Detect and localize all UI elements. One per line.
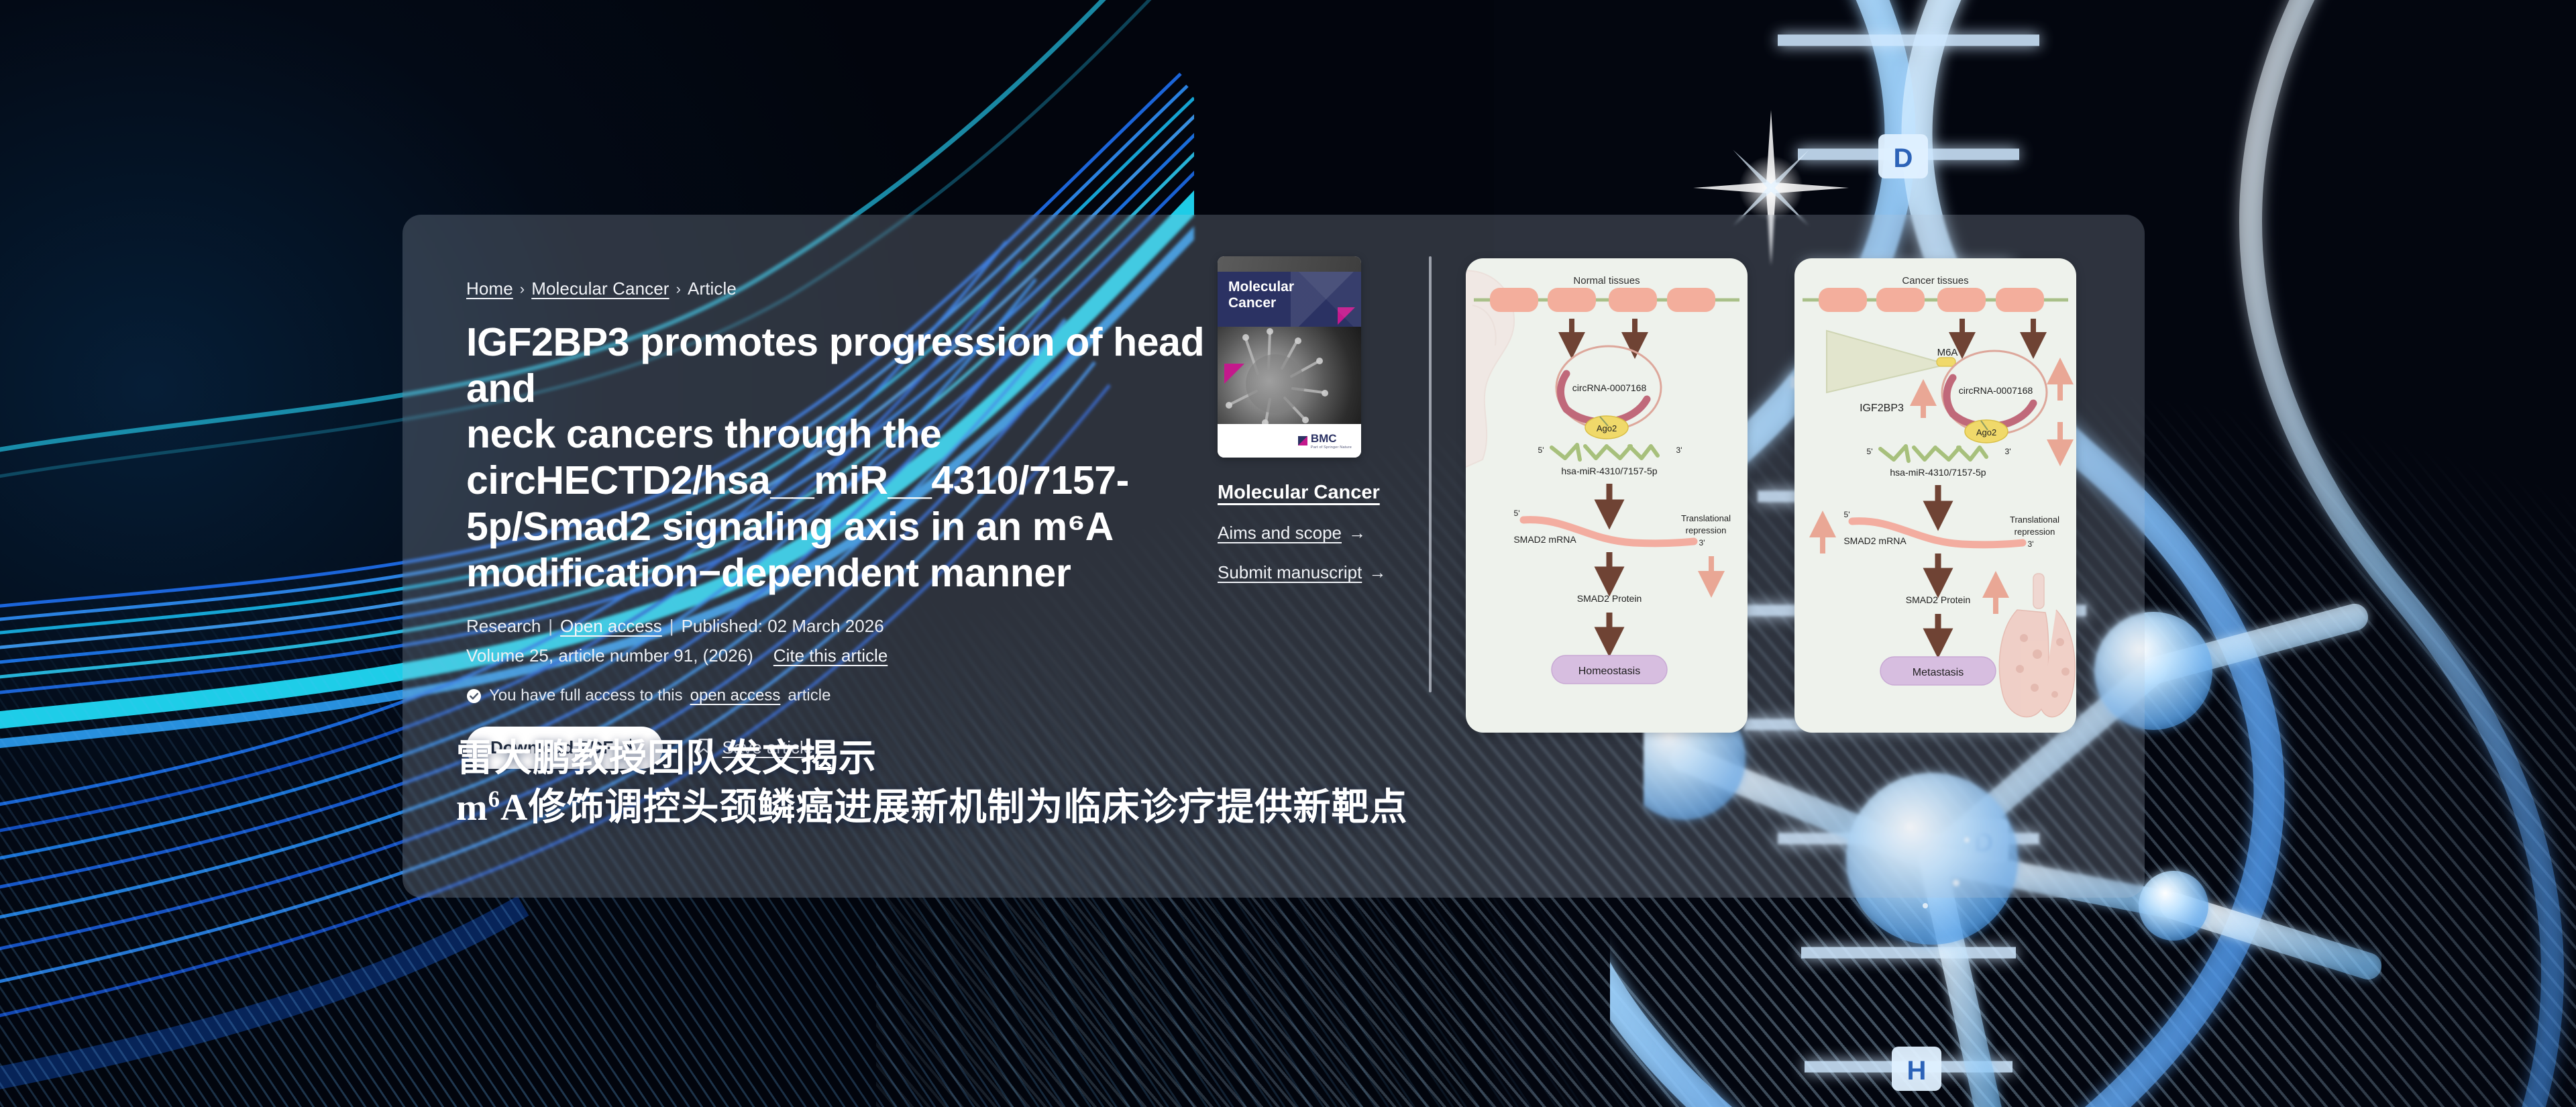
panel-1-circrna-label: circRNA-0007168 (1572, 382, 1647, 393)
panel-1-translational-repression-line1: Translational (1681, 513, 1731, 523)
aims-and-scope-link[interactable]: Aims and scope → (1218, 523, 1366, 543)
title-line-4: 5p/Smad2 signaling axis in an m⁶A (466, 505, 1114, 549)
published-date: Published: 02 March 2026 (682, 616, 884, 637)
breadcrumb: Home › Molecular Cancer › Article (466, 278, 1305, 299)
panel-2-mrna-three-prime: 3' (2028, 539, 2034, 549)
panel-2-mirna-label: hsa-miR-4310/7157-5p (1890, 467, 1986, 478)
aims-and-scope-label: Aims and scope (1218, 523, 1342, 543)
meta-pipe-1: | (548, 616, 553, 637)
breadcrumb-home[interactable]: Home (466, 278, 513, 299)
panel-2-heading: Cancer tissues (1902, 275, 1968, 286)
bmc-label: BMC (1311, 432, 1337, 445)
panel-2-three-prime: 3' (2005, 447, 2011, 456)
svg-text:D: D (1894, 144, 1913, 173)
submit-manuscript-link[interactable]: Submit manuscript → (1218, 562, 1386, 583)
panel-1-five-prime: 5' (1538, 445, 1544, 455)
bmc-mark-icon (1298, 436, 1307, 445)
journal-cover-title-line2: Cancer (1228, 295, 1361, 311)
bmc-logo-icon: BMC Part of Springer Nature (1298, 433, 1352, 450)
panel-1-mrna-three-prime: 3' (1699, 538, 1705, 547)
title-line-3: circHECTD2/hsa__miR__4310/7157- (466, 458, 1129, 503)
panel-2-m6a-label: M6A (1937, 347, 1958, 358)
breadcrumb-separator-2: › (676, 280, 681, 298)
panel-2-translational-repression-line2: repression (2015, 527, 2055, 537)
submit-manuscript-label: Submit manuscript (1218, 562, 1362, 583)
arrow-right-icon: → (1348, 523, 1366, 543)
access-notice-post: article (788, 686, 830, 705)
page-title: IGF2BP3 promotes progression of head and… (466, 319, 1207, 596)
journal-sidebar: Molecular Cancer (1218, 256, 1385, 583)
panel-1-three-prime: 3' (1676, 445, 1682, 455)
chinese-headline-line-2-pre: m (456, 787, 488, 829)
cite-this-article-link[interactable]: Cite this article (773, 645, 888, 666)
panel-2-protein-label: SMAD2 Protein (1906, 594, 1970, 605)
access-notice: You have full access to this open access… (466, 686, 1305, 705)
chinese-headline-line-2: m6A修饰调控头颈鳞癌进展新机制为临床诊疗提供新靶点 (456, 784, 2200, 833)
journal-cover-title-band: Molecular Cancer (1218, 272, 1361, 327)
chinese-headline-line-2-sup: 6 (488, 786, 500, 812)
article-summary: Home › Molecular Cancer › Article IGF2BP… (466, 278, 1305, 769)
panel-2-igf2bp3-label: IGF2BP3 (1860, 403, 1904, 414)
panel-2-mrna-label: SMAD2 mRNA (1843, 535, 1907, 546)
journal-cover-photo (1218, 327, 1361, 424)
panel-1-mrna-five-prime: 5' (1514, 509, 1520, 518)
panel-2-circrna-label: circRNA-0007168 (1959, 385, 2033, 396)
journal-name-link[interactable]: Molecular Cancer (1218, 482, 1380, 504)
panel-1-mrna-label: SMAD2 mRNA (1513, 534, 1576, 545)
figure-panel-cancer-tissues: Cancer tissues M6A IGF2BP3 (1794, 258, 2076, 733)
title-line-1: IGF2BP3 promotes progression of head and (466, 320, 1204, 411)
panel-1-heading: Normal tissues (1573, 275, 1640, 286)
journal-cover-top-strip (1218, 256, 1361, 272)
cover-pink-triangle-top-icon (1338, 307, 1355, 325)
graphical-abstract: Normal tissues (1466, 258, 2076, 733)
panel-2-outcome-label: Metastasis (1913, 667, 1964, 678)
panel-2-mrna-five-prime: 5' (1844, 510, 1850, 519)
bmc-sublabel: Part of Springer Nature (1311, 445, 1352, 450)
figure-panel-normal-tissues: Normal tissues (1466, 258, 1748, 733)
meta-pipe-2: | (669, 616, 674, 637)
journal-cover-footer: BMC Part of Springer Nature (1218, 424, 1361, 458)
vertical-divider (1429, 256, 1432, 692)
panel-1-outcome-label: Homeostasis (1578, 666, 1640, 677)
article-type: Research (466, 616, 541, 637)
breadcrumb-current: Article (688, 278, 737, 299)
open-access-link[interactable]: Open access (560, 616, 662, 637)
title-line-2: neck cancers through the (466, 412, 941, 456)
chinese-headline: 雷大鹏教授团队发文揭示 m6A修饰调控头颈鳞癌进展新机制为临床诊疗提供新靶点 (456, 735, 2200, 833)
article-meta-line-1: Research | Open access | Published: 02 M… (466, 616, 1305, 637)
access-notice-link[interactable]: open access (690, 686, 781, 705)
panel-1-translational-repression-line2: repression (1686, 525, 1727, 535)
panel-1-protein-label: SMAD2 Protein (1577, 593, 1642, 604)
cover-pink-triangle-photo-icon (1224, 364, 1244, 384)
panel-2-five-prime: 5' (1867, 447, 1873, 456)
journal-cover-title-line1: Molecular (1228, 279, 1361, 295)
panel-2-translational-repression-line1: Translational (2010, 515, 2059, 525)
chinese-headline-line-1: 雷大鹏教授团队发文揭示 (456, 735, 2200, 784)
breadcrumb-separator-1: › (520, 280, 525, 298)
journal-cover[interactable]: Molecular Cancer (1218, 256, 1361, 458)
check-circle-icon (466, 688, 482, 704)
access-notice-pre: You have full access to this (489, 686, 683, 705)
title-line-5: modification−dependent manner (466, 551, 1071, 595)
chinese-headline-line-2-post: A修饰调控头颈鳞癌进展新机制为临床诊疗提供新靶点 (500, 787, 1407, 829)
article-meta-line-2: Volume 25, article number 91, (2026) Cit… (466, 645, 1305, 666)
breadcrumb-journal[interactable]: Molecular Cancer (531, 278, 669, 299)
panel-1-mirna-label: hsa-miR-4310/7157-5p (1561, 466, 1657, 476)
volume-info: Volume 25, article number 91, (2026) (466, 645, 753, 666)
arrow-right-icon: → (1368, 562, 1386, 583)
